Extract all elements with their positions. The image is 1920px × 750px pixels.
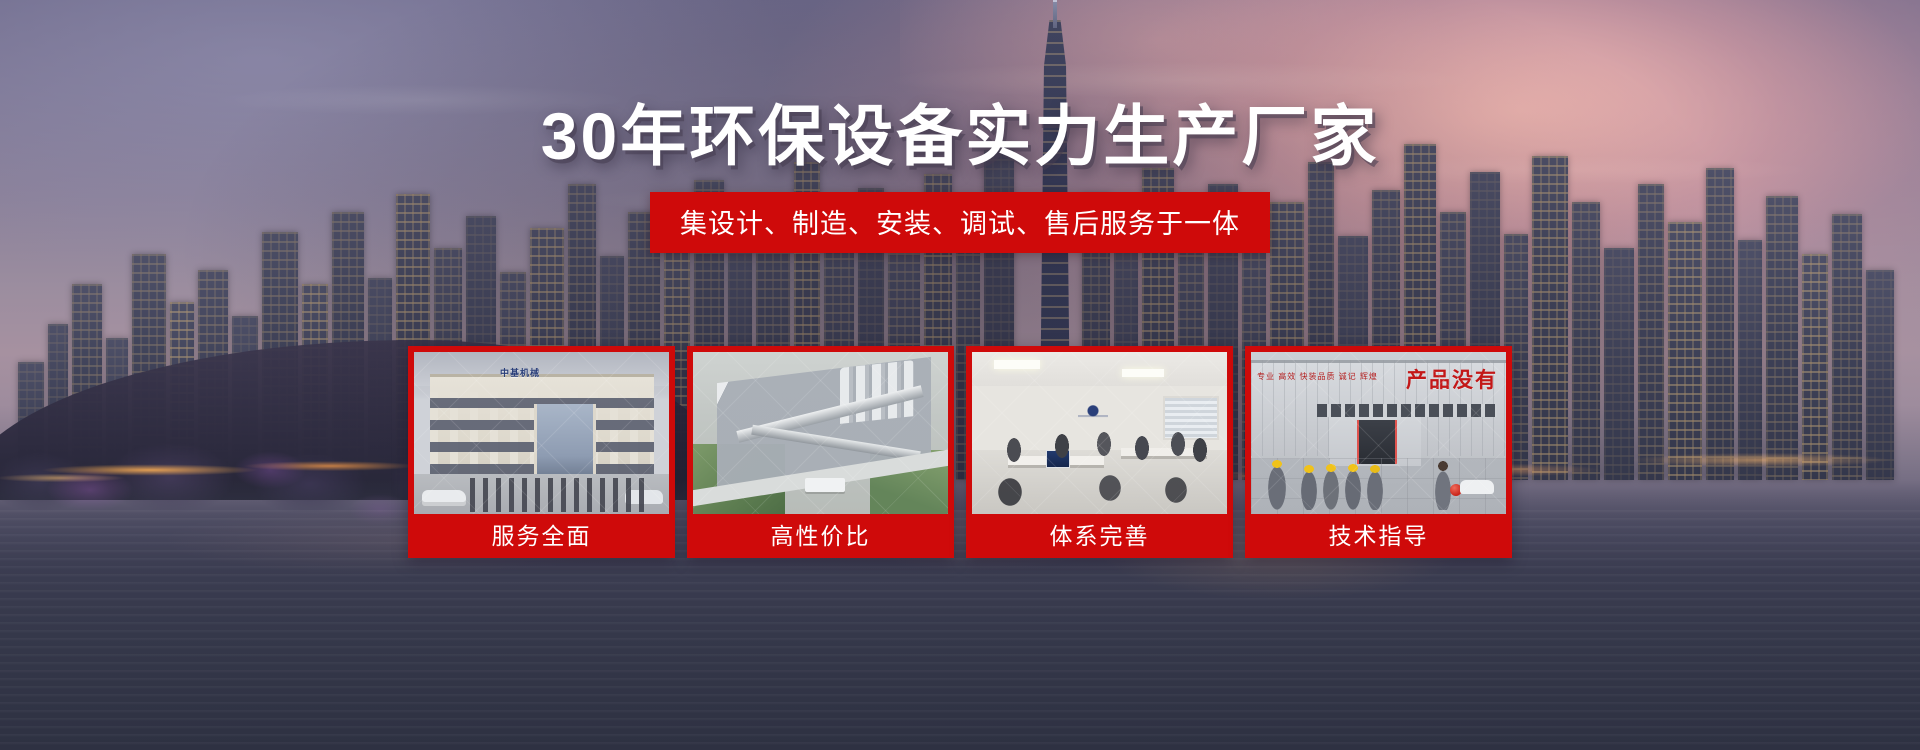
banner-headline: 30年环保设备实力生产厂家 bbox=[0, 103, 1920, 169]
photo-ceiling bbox=[972, 352, 1227, 386]
photo-workers-row bbox=[1265, 456, 1415, 510]
feature-card-label: 体系完善 bbox=[972, 514, 1227, 558]
photo-wall-logo bbox=[1078, 402, 1108, 424]
card-photo-headquarters: 中基机械 bbox=[414, 352, 669, 514]
photo-company-signage: 中基机械 bbox=[500, 366, 540, 379]
photo-truck bbox=[805, 478, 845, 492]
photo-factory-windows bbox=[1317, 404, 1497, 417]
photo-car bbox=[422, 490, 466, 506]
photo-factory-slogan-small: 专业 高效 快装品质 诚记 辉煌 bbox=[1257, 372, 1378, 382]
feature-card-label: 技术指导 bbox=[1251, 514, 1506, 558]
banner-content: 30年环保设备实力生产厂家 集设计、制造、安装、调试、售后服务于一体 中基机械 … bbox=[0, 0, 1920, 750]
photo-ceiling-light bbox=[1122, 369, 1164, 377]
feature-card[interactable]: 中基机械 服务全面 bbox=[408, 346, 675, 558]
photo-ceiling-light bbox=[994, 360, 1040, 369]
feature-card-list: 中基机械 服务全面 bbox=[408, 346, 1512, 558]
banner-subtitle-bar: 集设计、制造、安装、调试、售后服务于一体 bbox=[650, 192, 1270, 253]
photo-office-staff bbox=[992, 426, 1212, 468]
card-photo-office bbox=[972, 352, 1227, 514]
photo-building-entrance bbox=[534, 404, 596, 478]
photo-car bbox=[1460, 480, 1494, 494]
photo-factory-slogan: 产品没有 bbox=[1406, 364, 1498, 394]
card-photo-factory-yard: 产品没有 专业 高效 快装品质 诚记 辉煌 bbox=[1251, 352, 1506, 514]
feature-card[interactable]: 体系完善 bbox=[966, 346, 1233, 558]
feature-card[interactable]: 产品没有 专业 高效 快装品质 诚记 辉煌 技术指导 bbox=[1245, 346, 1512, 558]
photo-staff-lineup bbox=[470, 478, 650, 512]
feature-card[interactable]: 高性价比 bbox=[687, 346, 954, 558]
feature-card-label: 服务全面 bbox=[414, 514, 669, 558]
feature-card-label: 高性价比 bbox=[693, 514, 948, 558]
photo-office-chairs bbox=[986, 474, 1216, 508]
card-photo-production-plant bbox=[693, 352, 948, 514]
hero-banner: 30年环保设备实力生产厂家 集设计、制造、安装、调试、售后服务于一体 中基机械 … bbox=[0, 0, 1920, 750]
